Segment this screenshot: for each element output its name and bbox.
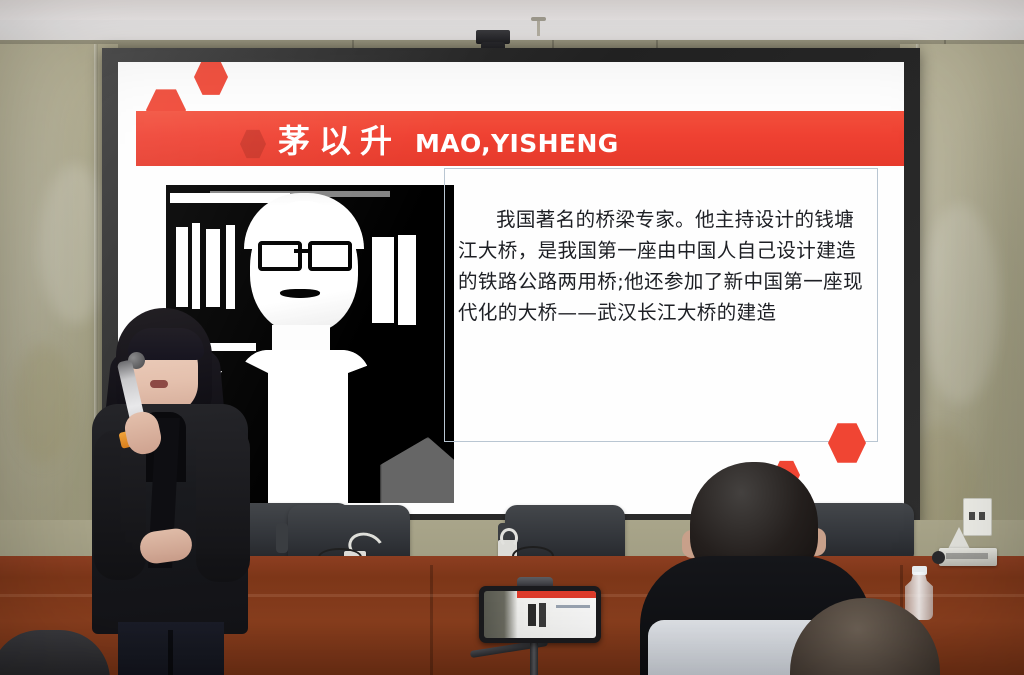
desk-seam (430, 565, 433, 675)
outlet-slot (979, 512, 985, 520)
phone-screen-figure (539, 603, 546, 627)
presenter-mouth (150, 380, 168, 388)
hexagon-notch-icon (240, 129, 266, 159)
sprinkler-icon (537, 20, 540, 36)
phone-screen-figure (528, 604, 536, 626)
presenter-leg-gap (168, 630, 173, 675)
glasses-bridge (294, 249, 308, 253)
slide-title-en: MAO,YISHENG (415, 129, 619, 158)
sprinkler-cap-icon (531, 17, 546, 21)
slide-title-cn: 茅以升 (278, 116, 401, 162)
phone-screen[interactable] (484, 591, 596, 638)
portrait-mouth (280, 289, 320, 298)
gooseneck-microphone (500, 528, 518, 548)
phone-screen-text-line (556, 605, 590, 608)
book-spine (398, 235, 416, 325)
wall-stain (14, 344, 74, 464)
device-label (946, 553, 988, 559)
glasses-lens-left (258, 241, 302, 271)
wall-stain (920, 204, 1000, 404)
outlet-slot (969, 512, 975, 520)
slide-title-group: 茅以升 MAO,YISHENG (278, 116, 619, 162)
book-spine (226, 225, 235, 309)
chair-arm (276, 523, 288, 553)
hexagon-decor-icon (194, 62, 228, 96)
ceiling-highlight (0, 0, 1024, 20)
phone-screen-banner (517, 591, 596, 598)
glasses-icon (258, 241, 350, 263)
book-spine (176, 227, 188, 307)
slide-body-text: 我国著名的桥梁专家。他主持设计的钱塘江大桥，是我国第一座由中国人自己设计建造的铁… (458, 204, 866, 328)
device-knob-icon (932, 551, 945, 564)
presenter-arm-right (196, 426, 250, 582)
book-spine (206, 229, 220, 307)
book-spine (192, 223, 200, 309)
slide-title-banner: 茅以升 MAO,YISHENG (136, 111, 904, 166)
book-spine (372, 237, 394, 323)
classroom-presentation-scene: 茅以升 MAO,YISHENG (0, 0, 1024, 675)
desk-stand-icon (948, 527, 970, 549)
glasses-lens-right (308, 241, 352, 271)
presenter (84, 300, 256, 675)
